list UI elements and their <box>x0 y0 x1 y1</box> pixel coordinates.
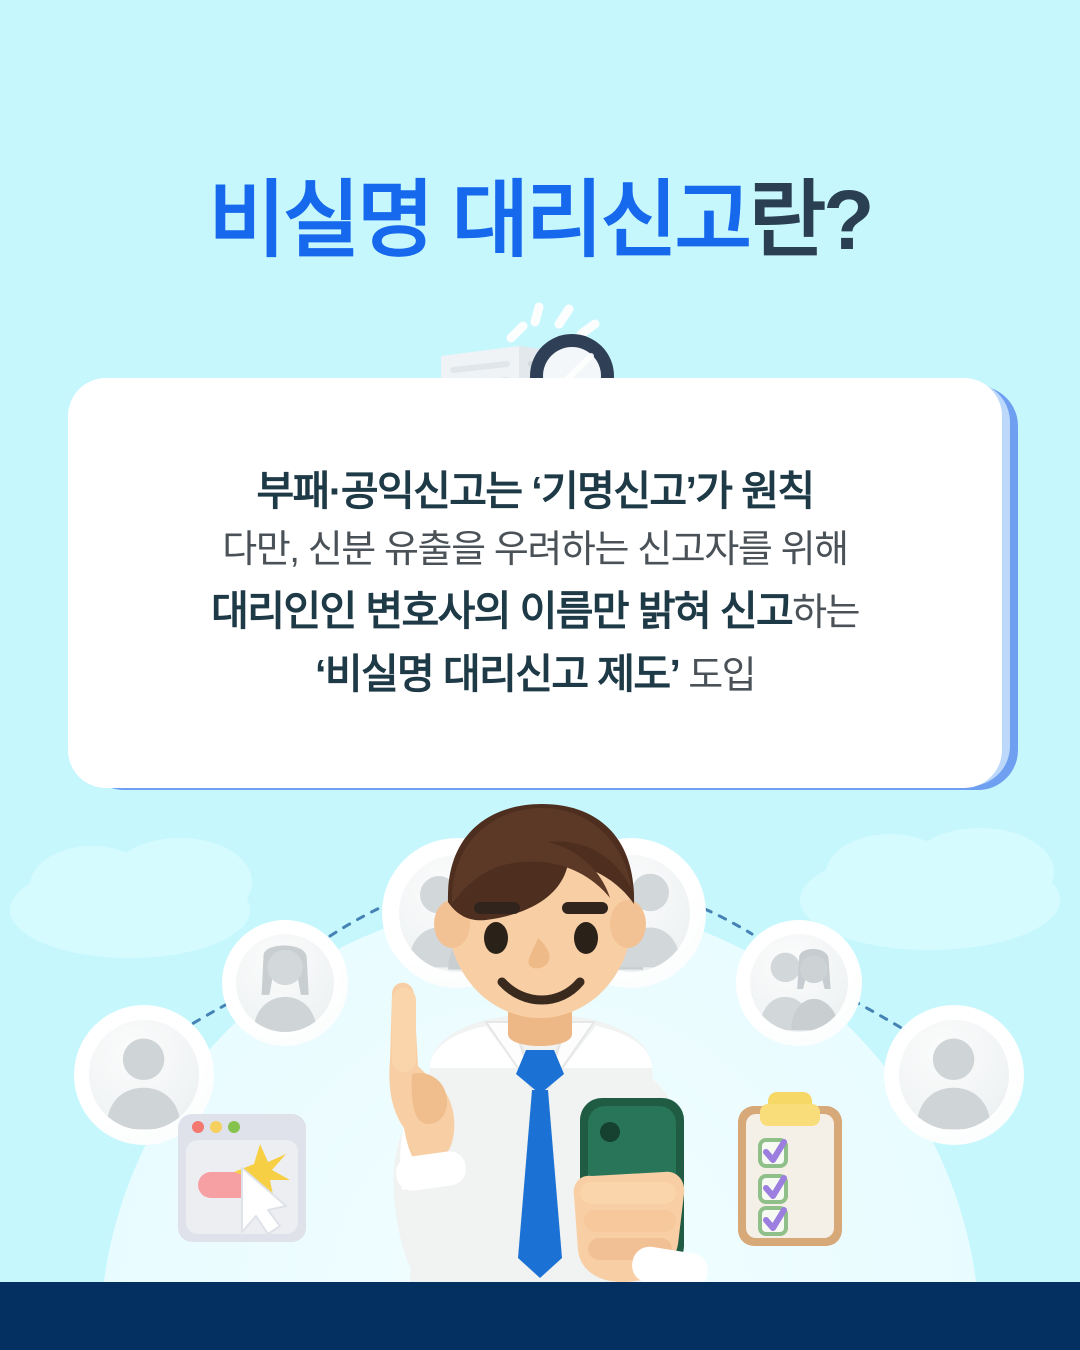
card-line-3: 대리인인 변호사의 이름만 밝혀 신고하는 <box>211 582 859 641</box>
card-line-4-regular: 도입 <box>679 655 755 697</box>
card-line-4: ‘비실명 대리신고 제도’ 도입 <box>315 645 755 704</box>
card-line-3-bold: 대리인인 변호사의 이름만 밝혀 신고 <box>211 588 792 634</box>
avatar-far-right <box>884 1005 1024 1145</box>
bottom-bar <box>0 1282 1080 1350</box>
card-line-4-bold: ‘비실명 대리신고 제도’ <box>315 651 679 697</box>
info-card: 부패·공익신고는 ‘기명신고’가 원칙 다만, 신분 유출을 우려하는 신고자를… <box>68 378 1002 788</box>
poster-stage: 비실명 대리신고란? <box>0 0 1080 1350</box>
card-line-3-regular: 하는 <box>792 592 859 634</box>
businessman-illustration <box>280 798 800 1298</box>
card-line-1: 부패·공익신고는 ‘기명신고’가 원칙 <box>257 462 814 520</box>
single-person-silhouette-icon <box>899 1020 1008 1129</box>
card-line-2: 다만, 신분 유출을 우려하는 신고자를 위해 <box>222 524 847 578</box>
page-title: 비실명 대리신고란? <box>0 178 1080 262</box>
page-title-accent: 비실명 대리신고 <box>209 173 749 267</box>
page-title-suffix: 란? <box>749 173 872 267</box>
